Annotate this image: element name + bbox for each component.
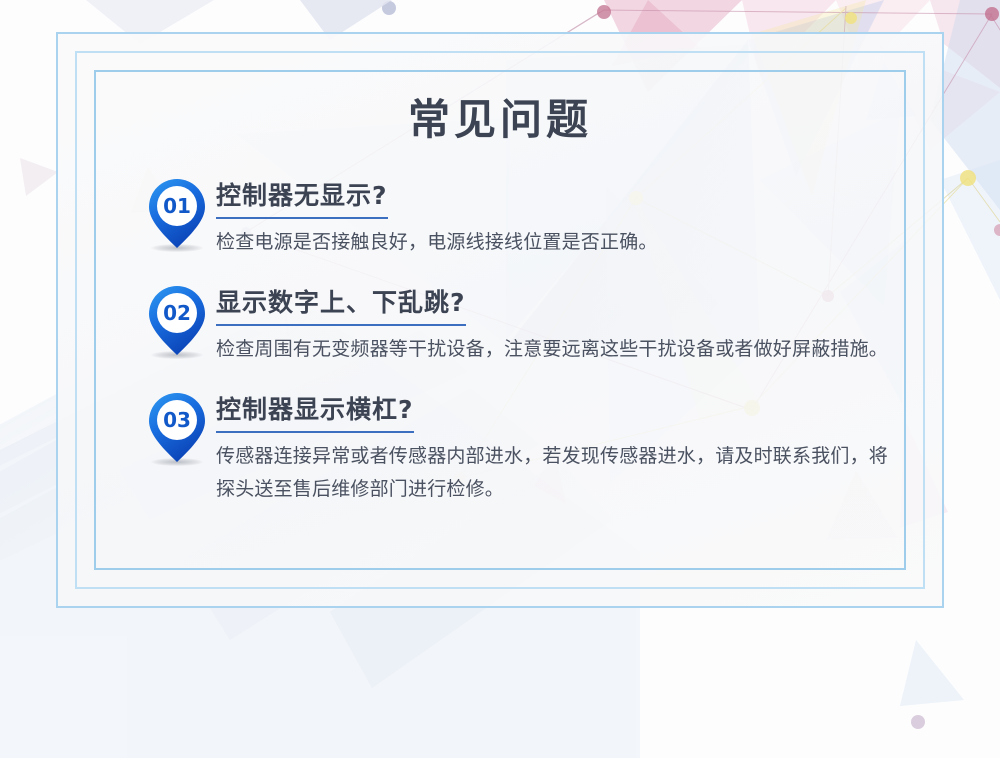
faq-item: 03 控制器显示横杠? 传感器连接异常或者传感器内部进水，若发现传感器进水，请及… [140, 392, 900, 506]
faq-list: 01 控制器无显示? 检查电源是否接触良好，电源线接线位置是否正确。 02 [140, 178, 900, 506]
faq-content: 控制器显示横杠? 传感器连接异常或者传感器内部进水，若发现传感器进水，请及时联系… [216, 392, 900, 506]
faq-answer: 传感器连接异常或者传感器内部进水，若发现传感器进水，请及时联系我们，将探头送至售… [216, 440, 900, 506]
faq-content: 控制器无显示? 检查电源是否接触良好，电源线接线位置是否正确。 [216, 178, 900, 259]
faq-question: 控制器无显示? [216, 180, 388, 212]
faq-question: 显示数字上、下乱跳? [216, 287, 466, 319]
page-root: 常见问题 01 控制器无显示? 检查电源是否接触良好，电源线接线位置是否正确。 [0, 0, 1000, 758]
faq-answer: 检查周围有无变频器等干扰设备，注意要远离这些干扰设备或者做好屏蔽措施。 [216, 333, 900, 366]
faq-number-text: 01 [148, 178, 206, 234]
page-title: 常见问题 [0, 92, 1000, 148]
faq-number-text: 02 [148, 285, 206, 341]
faq-number-badge: 02 [140, 285, 216, 363]
faq-answer: 检查电源是否接触良好，电源线接线位置是否正确。 [216, 226, 900, 259]
faq-number-badge: 01 [140, 178, 216, 256]
faq-item: 02 显示数字上、下乱跳? 检查周围有无变频器等干扰设备，注意要远离这些干扰设备… [140, 285, 900, 366]
faq-number-text: 03 [148, 392, 206, 448]
faq-item: 01 控制器无显示? 检查电源是否接触良好，电源线接线位置是否正确。 [140, 178, 900, 259]
faq-question-row: 控制器无显示? [216, 180, 388, 219]
faq-question: 控制器显示横杠? [216, 394, 414, 426]
faq-question-row: 控制器显示横杠? [216, 394, 414, 433]
faq-content: 显示数字上、下乱跳? 检查周围有无变频器等干扰设备，注意要远离这些干扰设备或者做… [216, 285, 900, 366]
faq-number-badge: 03 [140, 392, 216, 470]
faq-question-row: 显示数字上、下乱跳? [216, 287, 466, 326]
